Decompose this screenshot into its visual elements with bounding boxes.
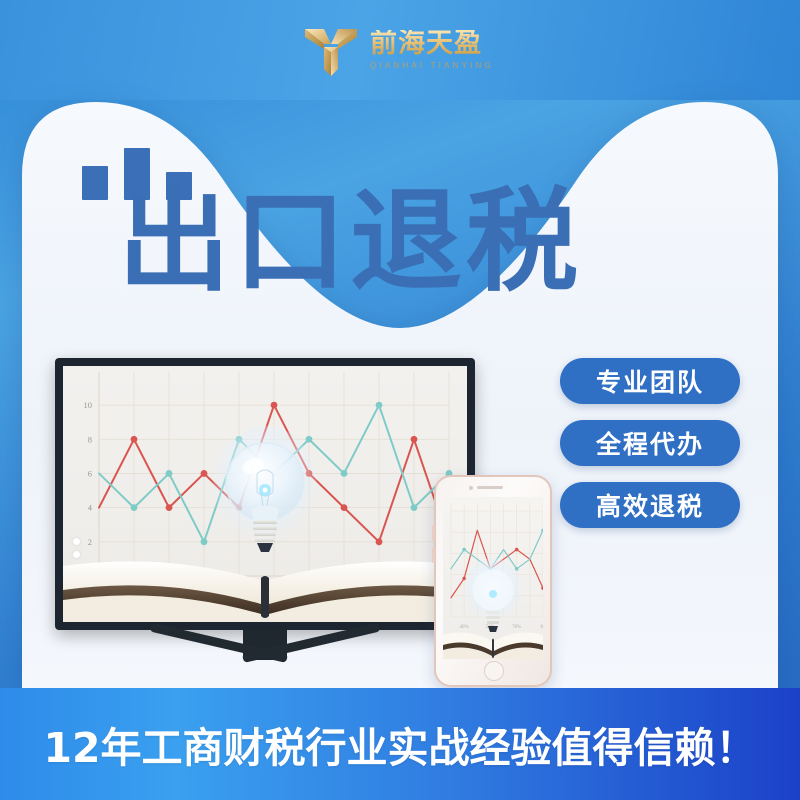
desktop-monitor: 024681010%20%30%40%50%60%70%80%90%100% bbox=[55, 358, 475, 658]
bottom-banner-text: 12年工商财税行业实战经验值得信赖！ bbox=[43, 714, 756, 774]
poster-root: 出口退税 024681010%20%30%40%50%60%70%80%90%1… bbox=[0, 0, 800, 800]
brand-name-en: QIANHAI TIANYING bbox=[370, 61, 494, 70]
bottom-banner: 12年工商财税行业实战经验值得信赖！ bbox=[0, 688, 800, 800]
phone-speaker bbox=[477, 486, 503, 489]
feature-badge-full-service[interactable]: 全程代办 bbox=[560, 420, 740, 466]
brand-name-cn: 前海天盈 bbox=[370, 30, 494, 58]
feature-badge-professional-team[interactable]: 专业团队 bbox=[560, 358, 740, 404]
phone-volume-up[interactable] bbox=[432, 525, 435, 541]
brand-logo[interactable]: 前海天盈 QIANHAI TIANYING bbox=[300, 14, 530, 86]
phone-camera-icon bbox=[469, 486, 473, 490]
qianhai-tianying-logo-mark-icon bbox=[300, 19, 362, 81]
phone-screen: 40%50%70%80 bbox=[443, 497, 543, 659]
feature-badge-list: 专业团队 全程代办 高效退税 bbox=[560, 358, 740, 528]
brand-logo-text: 前海天盈 QIANHAI TIANYING bbox=[370, 30, 494, 70]
svg-text:10: 10 bbox=[84, 400, 93, 410]
smartphone: 40%50%70%80 bbox=[434, 475, 552, 687]
open-book-icon bbox=[63, 544, 467, 622]
monitor-screen: 024681010%20%30%40%50%60%70%80%90%100% bbox=[63, 366, 467, 622]
screen-dots bbox=[73, 538, 80, 564]
svg-text:6: 6 bbox=[88, 468, 92, 478]
svg-text:4: 4 bbox=[88, 503, 93, 513]
phone-volume-down[interactable] bbox=[432, 547, 435, 563]
svg-text:8: 8 bbox=[88, 434, 92, 444]
feature-badge-efficient-refund[interactable]: 高效退税 bbox=[560, 482, 740, 528]
phone-home-button[interactable] bbox=[484, 661, 504, 681]
monitor-bezel: 024681010%20%30%40%50%60%70%80%90%100% bbox=[55, 358, 475, 630]
phone-lightbulb-icon bbox=[463, 557, 523, 643]
page-title: 出口退税 bbox=[118, 186, 582, 298]
